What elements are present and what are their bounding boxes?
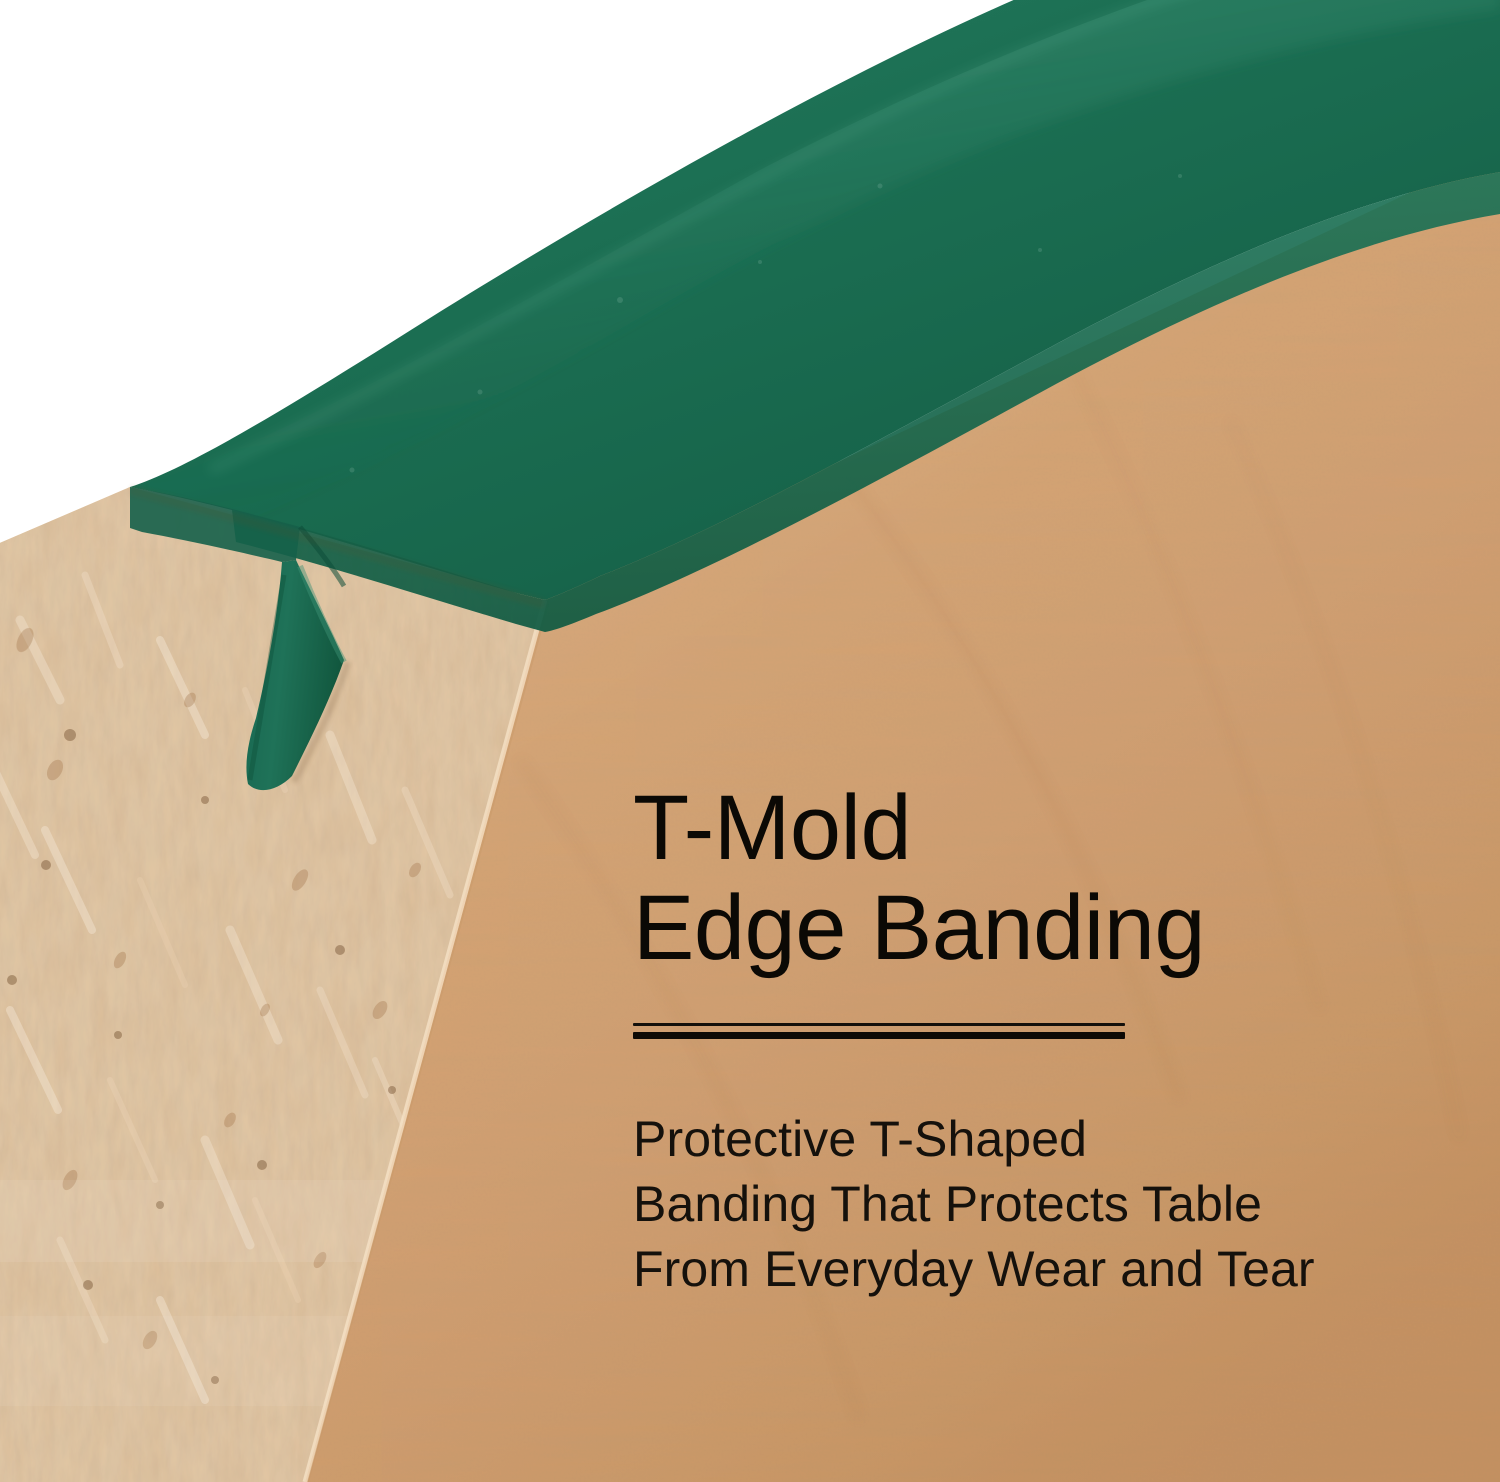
feature-description: Protective T-Shaped Banding That Protect…	[633, 1107, 1413, 1302]
divider-rule-bottom	[633, 1032, 1125, 1039]
double-rule-divider	[633, 1023, 1125, 1039]
page-title: T-Mold Edge Banding	[633, 778, 1413, 979]
divider-rule-gap	[633, 1026, 1125, 1032]
copy-block: T-Mold Edge Banding Protective T-Shaped …	[633, 778, 1413, 1302]
product-image-canvas: T-Mold Edge Banding Protective T-Shaped …	[0, 0, 1500, 1482]
